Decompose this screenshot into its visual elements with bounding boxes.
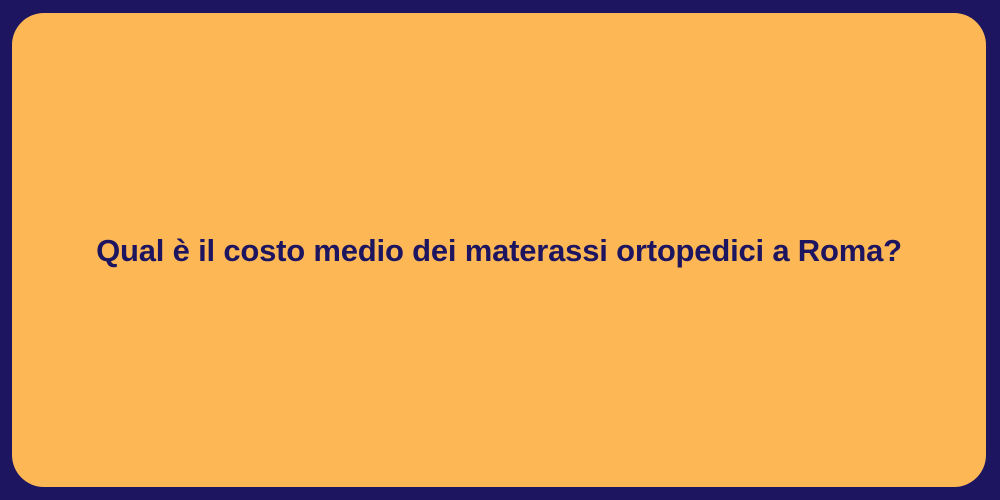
- question-block: Qual è il costo medio dei materassi orto…: [12, 232, 986, 271]
- question-card-panel: Qual è il costo medio dei materassi orto…: [12, 13, 986, 487]
- question-heading: Qual è il costo medio dei materassi orto…: [96, 232, 902, 271]
- card-frame: Qual è il costo medio dei materassi orto…: [0, 0, 1000, 500]
